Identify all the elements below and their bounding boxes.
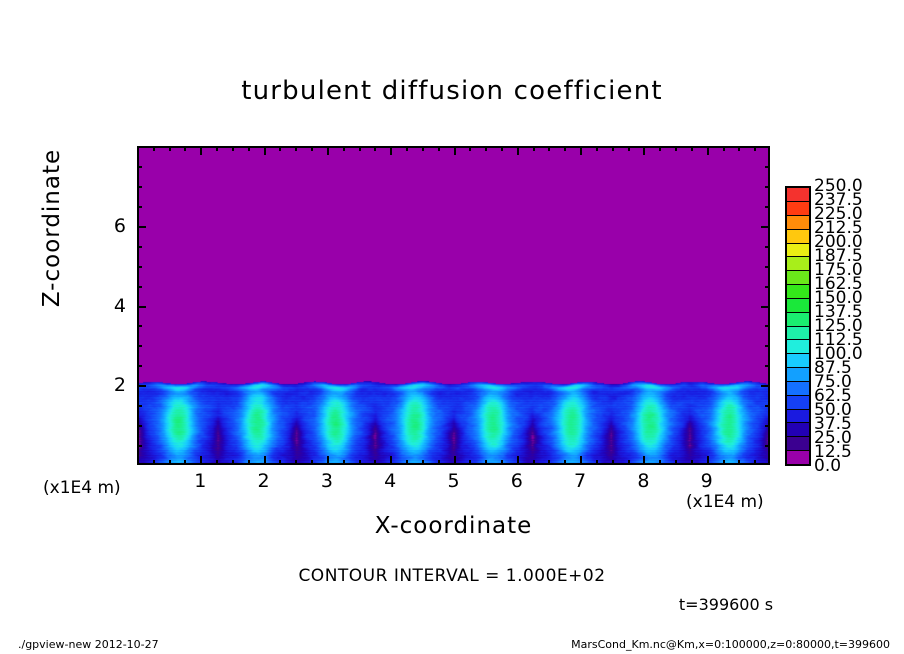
axis-tick — [343, 460, 345, 465]
colorbar-swatch — [787, 202, 809, 216]
x-unit-right-label: (x1E4 m) — [686, 492, 764, 512]
x-unit-left-label: (x1E4 m) — [43, 478, 121, 498]
axis-tick — [485, 460, 487, 465]
axis-tick — [707, 146, 709, 155]
x-tick-label: 3 — [312, 470, 342, 492]
axis-tick — [628, 460, 630, 465]
colorbar-swatch — [787, 230, 809, 244]
axis-tick — [643, 456, 645, 465]
axis-tick — [422, 146, 424, 151]
axis-tick — [469, 146, 471, 151]
y-tick-label: 6 — [104, 215, 126, 237]
axis-tick — [200, 146, 202, 155]
axis-tick — [153, 146, 155, 151]
colorbar-swatch — [787, 382, 809, 396]
axis-tick — [469, 460, 471, 465]
plot-area — [137, 146, 770, 465]
x-axis-title: X-coordinate — [137, 513, 770, 539]
axis-tick — [279, 460, 281, 465]
colorbar-swatch — [787, 451, 809, 464]
axis-tick — [501, 146, 503, 151]
time-caption: t=399600 s — [0, 595, 904, 614]
axis-tick — [517, 146, 519, 155]
axis-tick — [137, 325, 142, 327]
axis-tick — [612, 460, 614, 465]
axis-tick — [533, 460, 535, 465]
x-tick-label: 7 — [565, 470, 595, 492]
x-tick-label: 6 — [502, 470, 532, 492]
axis-tick — [628, 146, 630, 151]
axis-tick — [327, 456, 329, 465]
axis-tick — [327, 146, 329, 155]
axis-tick — [137, 445, 142, 447]
colorbar-swatch — [787, 354, 809, 368]
axis-tick — [517, 456, 519, 465]
axis-tick — [761, 385, 770, 387]
axis-tick — [216, 460, 218, 465]
axis-tick — [200, 456, 202, 465]
axis-tick — [137, 206, 142, 208]
colorbar-swatch — [787, 396, 809, 410]
axis-tick — [596, 146, 598, 151]
axis-tick — [248, 146, 250, 151]
axis-tick — [137, 385, 146, 387]
axis-tick — [765, 345, 770, 347]
axis-tick — [659, 146, 661, 151]
colorbar-swatch — [787, 423, 809, 437]
axis-tick — [248, 460, 250, 465]
axis-tick — [184, 460, 186, 465]
axis-tick — [765, 206, 770, 208]
footer-left: ./gpview-new 2012-10-27 — [18, 638, 159, 651]
axis-tick — [137, 405, 142, 407]
axis-tick — [406, 460, 408, 465]
colorbar-swatch — [787, 188, 809, 202]
axis-tick — [264, 146, 266, 155]
axis-tick — [754, 146, 756, 151]
x-tick-label: 1 — [185, 470, 215, 492]
axis-tick — [765, 266, 770, 268]
axis-tick — [738, 460, 740, 465]
axis-tick — [754, 460, 756, 465]
axis-tick — [422, 460, 424, 465]
axis-tick — [643, 146, 645, 155]
axis-tick — [216, 146, 218, 151]
axis-tick — [765, 286, 770, 288]
axis-tick — [765, 365, 770, 367]
x-tick-label: 4 — [375, 470, 405, 492]
axis-tick — [707, 456, 709, 465]
axis-tick — [406, 146, 408, 151]
axis-tick — [765, 166, 770, 168]
axis-tick — [359, 146, 361, 151]
axis-tick — [765, 246, 770, 248]
axis-tick — [485, 146, 487, 151]
axis-tick — [454, 456, 456, 465]
axis-tick — [137, 186, 142, 188]
axis-tick — [564, 460, 566, 465]
axis-tick — [761, 226, 770, 228]
axis-tick — [533, 146, 535, 151]
axis-tick — [659, 460, 661, 465]
colorbar-swatch — [787, 257, 809, 271]
axis-tick — [264, 456, 266, 465]
axis-tick — [137, 345, 142, 347]
axis-tick — [675, 146, 677, 151]
axis-tick — [232, 460, 234, 465]
axis-tick — [137, 266, 142, 268]
axis-tick — [390, 146, 392, 155]
axis-tick — [454, 146, 456, 155]
x-tick-label: 2 — [249, 470, 279, 492]
axis-tick — [279, 146, 281, 151]
colorbar-swatch — [787, 285, 809, 299]
axis-tick — [374, 460, 376, 465]
colorbar-swatch — [787, 368, 809, 382]
axis-tick — [137, 365, 142, 367]
axis-tick — [295, 460, 297, 465]
axis-tick — [438, 460, 440, 465]
axis-tick — [612, 146, 614, 151]
axis-tick — [580, 146, 582, 155]
axis-tick — [723, 146, 725, 151]
colorbar-swatch — [787, 299, 809, 313]
colorbar-swatch — [787, 327, 809, 341]
axis-tick — [723, 460, 725, 465]
y-tick-label: 4 — [104, 295, 126, 317]
axis-tick — [137, 166, 142, 168]
axis-tick — [374, 146, 376, 151]
axis-tick — [765, 325, 770, 327]
axis-tick — [232, 146, 234, 151]
y-axis-title: Z-coordinate — [39, 138, 65, 318]
axis-tick — [675, 460, 677, 465]
colorbar — [785, 186, 811, 466]
axis-tick — [137, 306, 146, 308]
colorbar-swatch — [787, 244, 809, 258]
axis-tick — [761, 306, 770, 308]
axis-tick — [765, 405, 770, 407]
heatmap-field — [139, 148, 768, 463]
axis-tick — [311, 460, 313, 465]
axis-tick — [738, 146, 740, 151]
page-title: turbulent diffusion coefficient — [0, 76, 904, 106]
axis-tick — [438, 146, 440, 151]
axis-tick — [390, 456, 392, 465]
y-tick-label: 2 — [104, 374, 126, 396]
axis-tick — [501, 460, 503, 465]
axis-tick — [691, 460, 693, 465]
axis-tick — [153, 460, 155, 465]
axis-tick — [564, 146, 566, 151]
axis-tick — [137, 286, 142, 288]
axis-tick — [137, 425, 142, 427]
axis-tick — [311, 146, 313, 151]
colorbar-swatch — [787, 271, 809, 285]
colorbar-swatch — [787, 340, 809, 354]
axis-tick — [169, 460, 171, 465]
axis-tick — [765, 445, 770, 447]
axis-tick — [137, 246, 142, 248]
colorbar-swatch — [787, 216, 809, 230]
axis-tick — [169, 146, 171, 151]
axis-tick — [580, 456, 582, 465]
axis-tick — [765, 425, 770, 427]
axis-tick — [295, 146, 297, 151]
axis-tick — [548, 146, 550, 151]
x-tick-label: 8 — [628, 470, 658, 492]
colorbar-swatch — [787, 410, 809, 424]
colorbar-swatch — [787, 313, 809, 327]
axis-tick — [548, 460, 550, 465]
axis-tick — [137, 226, 146, 228]
axis-tick — [596, 460, 598, 465]
colorbar-labels: 0.012.525.037.550.062.575.087.5100.0112.… — [814, 186, 884, 466]
x-tick-label: 5 — [439, 470, 469, 492]
axis-tick — [184, 146, 186, 151]
axis-tick — [343, 146, 345, 151]
colorbar-tick-label: 250.0 — [814, 178, 863, 195]
footer-right: MarsCond_Km.nc@Km,x=0:100000,z=0:80000,t… — [571, 638, 890, 651]
axis-tick — [765, 186, 770, 188]
x-tick-label: 9 — [692, 470, 722, 492]
contour-interval-caption: CONTOUR INTERVAL = 1.000E+02 — [0, 566, 904, 586]
axis-tick — [359, 460, 361, 465]
axis-tick — [691, 146, 693, 151]
colorbar-swatch — [787, 437, 809, 451]
